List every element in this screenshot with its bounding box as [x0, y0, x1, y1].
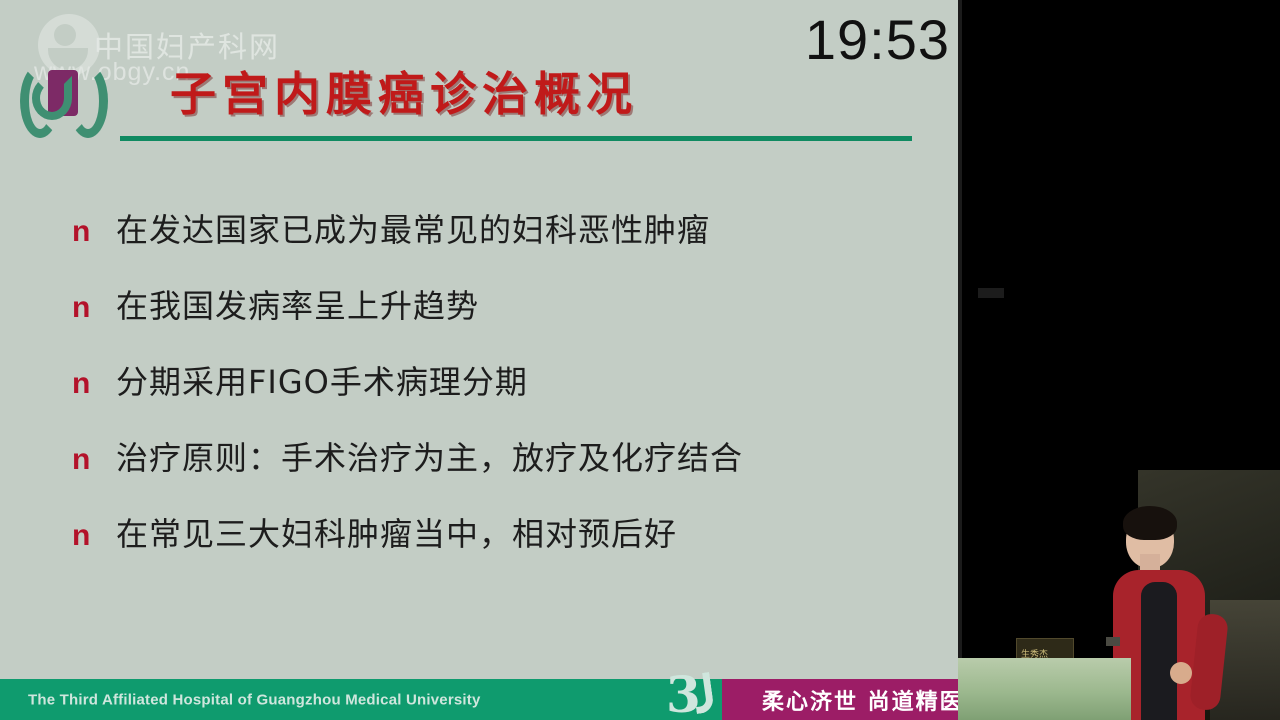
- bullet-marker-icon: n: [72, 521, 116, 551]
- list-item-label: 在常见三大妇科肿瘤当中，相对预后好: [116, 509, 677, 555]
- screen: 中国妇产科网 www.obgy.cn 子宫内膜癌诊治概况 19:53 n 在发达…: [0, 0, 1280, 720]
- list-item: n 在常见三大妇科肿瘤当中，相对预后好: [72, 509, 938, 585]
- list-item: n 分期采用FIGO手术病理分期: [72, 357, 938, 433]
- slide-content-area: 中国妇产科网 www.obgy.cn 子宫内膜癌诊治概况 19:53 n 在发达…: [0, 0, 958, 679]
- emblem-swoosh-shape: [32, 76, 72, 120]
- speaker-inner-top: [1141, 582, 1177, 720]
- bullet-marker-icon: n: [72, 293, 116, 323]
- elapsed-time-display: 19:53: [805, 12, 950, 68]
- podium: [958, 658, 1131, 720]
- bullet-marker-icon: n: [72, 445, 116, 475]
- footer-motto-badge: 柔心济世 尚道精医: [722, 679, 958, 720]
- bullet-marker-icon: n: [72, 369, 116, 399]
- podium-small-object: [1106, 637, 1120, 646]
- hospital-laurel-emblem-icon: [18, 56, 110, 144]
- hospital-number-three-icon: 3: [666, 669, 728, 720]
- list-item: n 在发达国家已成为最常见的妇科恶性肿瘤: [72, 205, 938, 281]
- speaker-hand: [1170, 662, 1192, 684]
- speaker-video-panel[interactable]: 生秀杰: [958, 0, 1280, 720]
- video-left-edge: [958, 0, 962, 720]
- title-divider: [120, 136, 912, 141]
- bullet-marker-icon: n: [72, 217, 116, 247]
- list-item: n 治疗原则：手术治疗为主，放疗及化疗结合: [72, 433, 938, 509]
- bullet-list: n 在发达国家已成为最常见的妇科恶性肿瘤 n 在我国发病率呈上升趋势 n 分期采…: [72, 205, 938, 585]
- list-item: n 在我国发病率呈上升趋势: [72, 281, 938, 357]
- page-title: 子宫内膜癌诊治概况: [170, 58, 638, 124]
- list-item-label: 在发达国家已成为最常见的妇科恶性肿瘤: [116, 205, 710, 251]
- list-item-label: 在我国发病率呈上升趋势: [116, 281, 479, 327]
- list-item-label: 分期采用FIGO手术病理分期: [116, 357, 528, 403]
- footer-institution-name: The Third Affiliated Hospital of Guangzh…: [28, 691, 481, 708]
- list-item-label: 治疗原则：手术治疗为主，放疗及化疗结合: [116, 433, 743, 479]
- presentation-slide: 中国妇产科网 www.obgy.cn 子宫内膜癌诊治概况 19:53 n 在发达…: [0, 0, 958, 720]
- slide-footer: The Third Affiliated Hospital of Guangzh…: [0, 679, 958, 720]
- footer-motto-label: 柔心济世 尚道精医: [762, 684, 958, 716]
- speaker-hair: [1123, 506, 1177, 540]
- dark-fixture: [978, 288, 1004, 298]
